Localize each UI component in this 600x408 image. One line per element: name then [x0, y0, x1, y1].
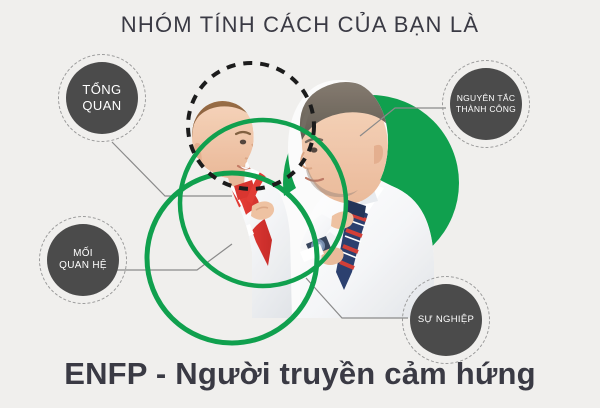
node-nguyen-tac-label: NGUYÊN TẮC THÀNH CÔNG — [452, 93, 520, 114]
infographic-root: NHÓM TÍNH CÁCH CỦA BẠN LÀ — [0, 0, 600, 408]
node-su-nghiep[interactable]: SỰ NGHIỆP — [410, 284, 482, 356]
node-nguyen-tac[interactable]: NGUYÊN TẮC THÀNH CÔNG — [450, 68, 522, 140]
node-moi-quan-he[interactable]: MỐI QUAN HỆ — [47, 224, 119, 296]
node-moi-quan-he-label: MỐI QUAN HỆ — [55, 248, 111, 273]
node-tong-quan[interactable]: TỔNG QUAN — [66, 62, 138, 134]
node-su-nghiep-label: SỰ NGHIỆP — [414, 314, 478, 326]
node-tong-quan-label: TỔNG QUAN — [78, 82, 125, 115]
result-headline: ENFP - Người truyền cảm hứng — [0, 356, 600, 392]
connector-moi-quan-he — [117, 244, 232, 270]
